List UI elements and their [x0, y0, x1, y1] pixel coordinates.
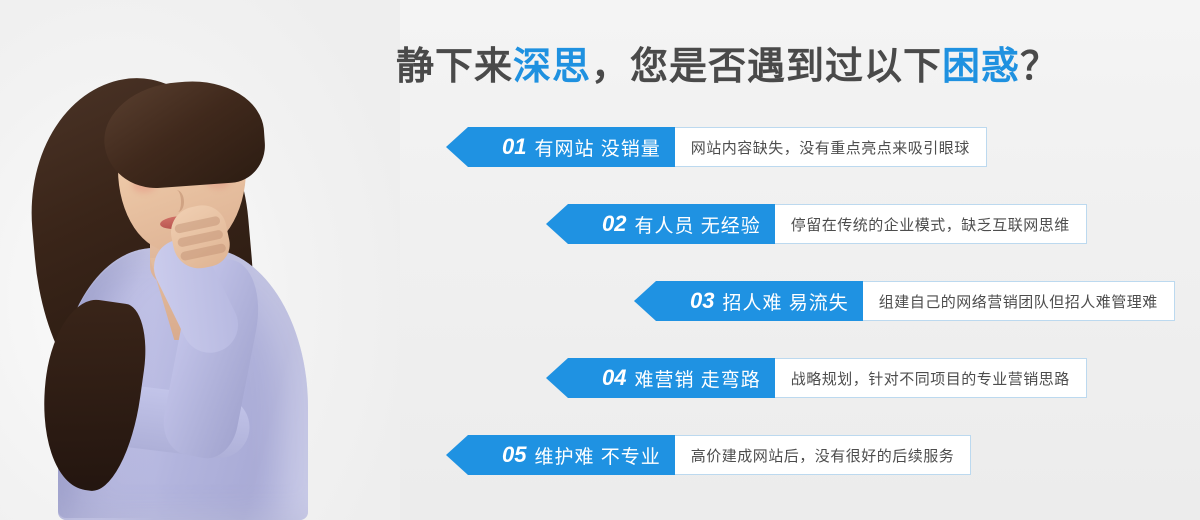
title-part-2: ，您是否遇到过以下: [591, 46, 942, 88]
title-highlight-1: 深思: [513, 46, 591, 88]
thinking-woman-photo: [0, 0, 400, 520]
pain-point-number: 01: [502, 134, 526, 160]
pain-point-description: 停留在传统的企业模式，缺乏互联网思维: [775, 204, 1087, 244]
pain-point-keyword: 有网站 没销量: [534, 134, 660, 161]
page-root: 静下来深思，您是否遇到过以下困惑？ 01有网站 没销量网站内容缺失，没有重点亮点…: [0, 0, 1200, 520]
pain-point-number: 05: [502, 442, 526, 468]
pain-point-keyword: 有人员 无经验: [634, 211, 760, 238]
pain-point-row[interactable]: 02有人员 无经验停留在传统的企业模式，缺乏互联网思维: [568, 204, 1087, 244]
pain-point-row[interactable]: 01有网站 没销量网站内容缺失，没有重点亮点来吸引眼球: [468, 127, 987, 167]
pain-point-description: 组建自己的网络营销团队但招人难管理难: [863, 281, 1175, 321]
pain-point-row[interactable]: 04难营销 走弯路战略规划，针对不同项目的专业营销思路: [568, 358, 1087, 398]
pain-point-row[interactable]: 03招人难 易流失组建自己的网络营销团队但招人难管理难: [656, 281, 1175, 321]
pain-point-description: 战略规划，针对不同项目的专业营销思路: [775, 358, 1087, 398]
pain-point-keyword: 维护难 不专业: [534, 442, 660, 469]
pain-point-description: 高价建成网站后，没有很好的后续服务: [675, 435, 972, 475]
pain-point-number: 02: [602, 211, 626, 237]
pain-point-tag[interactable]: 05维护难 不专业: [468, 435, 675, 475]
title-part-1: 静下来: [396, 46, 513, 88]
title-highlight-2: 困惑: [942, 46, 1020, 88]
page-title: 静下来深思，您是否遇到过以下困惑？: [396, 44, 1059, 90]
pain-point-number: 04: [602, 365, 626, 391]
title-part-3: ？: [1020, 46, 1059, 88]
pain-point-tag[interactable]: 01有网站 没销量: [468, 127, 675, 167]
pain-point-number: 03: [690, 288, 714, 314]
pain-point-tag[interactable]: 03招人难 易流失: [656, 281, 863, 321]
pain-point-keyword: 难营销 走弯路: [634, 365, 760, 392]
pain-point-description: 网站内容缺失，没有重点亮点来吸引眼球: [675, 127, 987, 167]
pain-point-keyword: 招人难 易流失: [722, 288, 848, 315]
pain-point-row[interactable]: 05维护难 不专业高价建成网站后，没有很好的后续服务: [468, 435, 971, 475]
pain-point-tag[interactable]: 04难营销 走弯路: [568, 358, 775, 398]
pain-point-tag[interactable]: 02有人员 无经验: [568, 204, 775, 244]
nose-shape: [170, 190, 184, 212]
